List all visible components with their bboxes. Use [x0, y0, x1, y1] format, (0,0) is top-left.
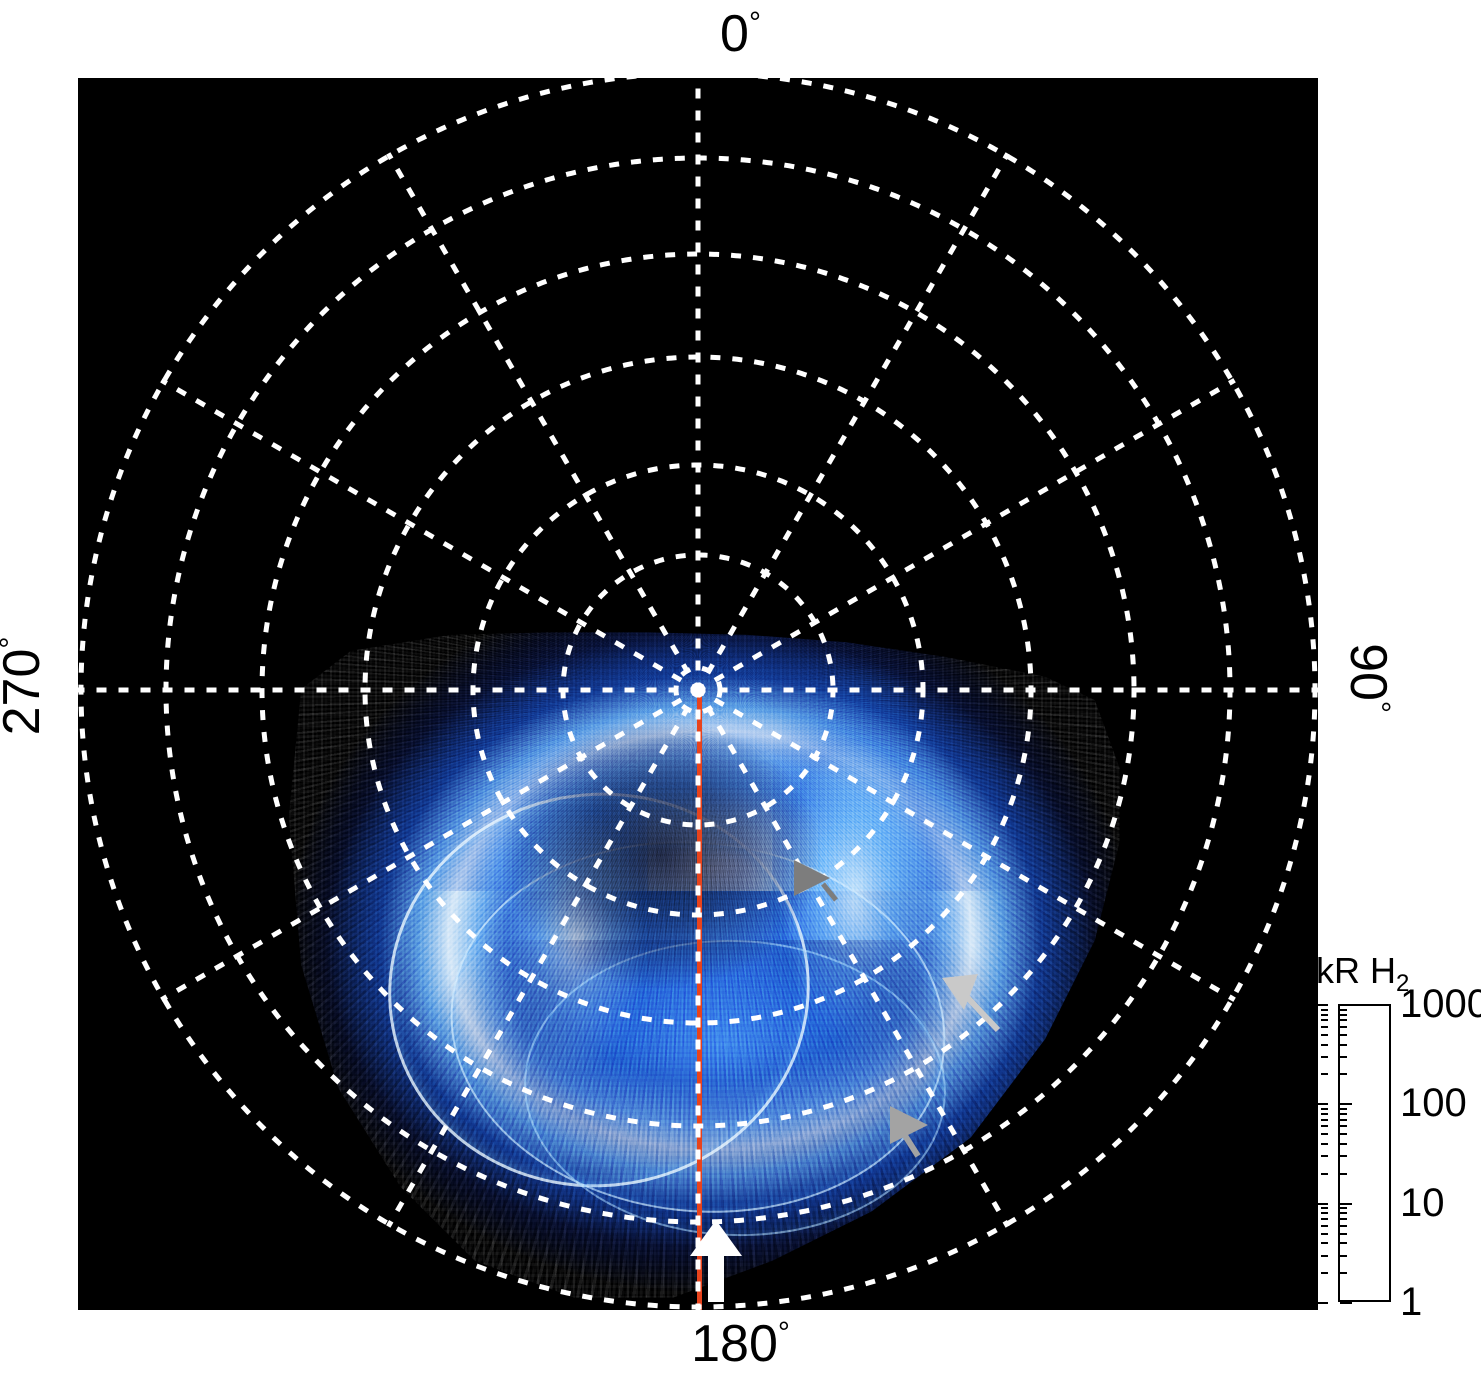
colorbar-minor-tick: [1321, 1155, 1328, 1157]
colorbar-minor-tick: [1340, 1173, 1347, 1175]
colorbar-minor-tick: [1321, 1056, 1328, 1058]
colorbar-minor-tick: [1321, 1113, 1328, 1115]
colorbar-minor-tick: [1340, 1272, 1347, 1274]
colorbar-tick-label: 1: [1400, 1282, 1422, 1322]
degree-symbol-bottom: °: [778, 1317, 790, 1350]
arrow-white-bottom-icon: [690, 1220, 742, 1302]
colorbar-title: kR H2: [1316, 950, 1409, 998]
colorbar-major-tick: [1316, 1302, 1328, 1304]
colorbar-major-tick: [1340, 1004, 1352, 1006]
colorbar-minor-tick: [1340, 1207, 1347, 1209]
colorbar-minor-tick: [1321, 1207, 1328, 1209]
colorbar-major-tick: [1316, 1103, 1328, 1105]
colorbar-minor-tick: [1340, 1133, 1347, 1135]
colorbar-gradient: [1338, 1004, 1391, 1302]
arrow-gray-lower-icon: [890, 1106, 928, 1156]
colorbar-minor-tick: [1321, 1212, 1328, 1214]
colorbar-minor-tick: [1321, 1044, 1328, 1046]
polar-plot-panel: [78, 78, 1318, 1310]
colorbar-minor-tick: [1340, 1125, 1347, 1127]
colorbar-minor-tick: [1340, 1212, 1347, 1214]
plot-inner: [78, 78, 1318, 1310]
colorbar-minor-tick: [1321, 1218, 1328, 1220]
colorbar-minor-tick: [1340, 1034, 1347, 1036]
colorbar-minor-tick: [1340, 1073, 1347, 1075]
colorbar-minor-tick: [1340, 1113, 1347, 1115]
degree-symbol-left: °: [0, 637, 28, 649]
colorbar-tick-label: 1000: [1400, 984, 1481, 1024]
colorbar-minor-tick: [1321, 1014, 1328, 1016]
colorbar-minor-tick: [1340, 1218, 1347, 1220]
colorbar-minor-tick: [1321, 1034, 1328, 1036]
axis-label-270-deg: 270°: [0, 606, 48, 766]
colorbar-minor-tick: [1340, 1225, 1347, 1227]
colorbar-major-tick: [1340, 1203, 1352, 1205]
colorbar-minor-tick: [1340, 1009, 1347, 1011]
colorbar-minor-tick: [1340, 1119, 1347, 1121]
colorbar-minor-tick: [1321, 1073, 1328, 1075]
colorbar-minor-tick: [1340, 1019, 1347, 1021]
colorbar-minor-tick: [1340, 1143, 1347, 1145]
colorbar-minor-tick: [1321, 1108, 1328, 1110]
colorbar-minor-tick: [1321, 1019, 1328, 1021]
degree-symbol-top: °: [749, 7, 761, 40]
colorbar-minor-tick: [1340, 1155, 1347, 1157]
colorbar-minor-tick: [1340, 1026, 1347, 1028]
colorbar-minor-tick: [1340, 1242, 1347, 1244]
colorbar-minor-tick: [1340, 1044, 1347, 1046]
colorbar-minor-tick: [1340, 1255, 1347, 1257]
colorbar-minor-tick: [1321, 1119, 1328, 1121]
arrow-light-mid-icon: [942, 974, 998, 1030]
colorbar-minor-tick: [1340, 1233, 1347, 1235]
colorbar-major-tick: [1316, 1203, 1328, 1205]
colorbar-minor-tick: [1340, 1014, 1347, 1016]
axis-label-0-deg: 0°: [0, 8, 1481, 60]
colorbar-minor-tick: [1321, 1173, 1328, 1175]
colorbar-tick-label: 10: [1400, 1183, 1445, 1223]
colorbar-minor-tick: [1321, 1009, 1328, 1011]
colorbar-tick-label: 100: [1400, 1083, 1467, 1123]
degree-symbol-right: °: [1362, 701, 1395, 713]
colorbar-minor-tick: [1321, 1125, 1328, 1127]
colorbar-major-tick: [1340, 1103, 1352, 1105]
annotation-markers: [78, 78, 1318, 1310]
colorbar-major-tick: [1340, 1302, 1352, 1304]
colorbar-minor-tick: [1321, 1225, 1328, 1227]
colorbar-minor-tick: [1321, 1133, 1328, 1135]
colorbar-minor-tick: [1321, 1233, 1328, 1235]
colorbar-minor-tick: [1340, 1108, 1347, 1110]
colorbar-major-tick: [1316, 1004, 1328, 1006]
colorbar-minor-tick: [1321, 1255, 1328, 1257]
colorbar-minor-tick: [1321, 1242, 1328, 1244]
colorbar-minor-tick: [1340, 1056, 1347, 1058]
axis-label-90-deg: 90°: [1342, 598, 1394, 758]
colorbar-minor-tick: [1321, 1026, 1328, 1028]
axis-label-180-deg: 180°: [0, 1318, 1481, 1370]
colorbar-minor-tick: [1321, 1272, 1328, 1274]
arrow-gray-upper-icon: [794, 860, 836, 900]
colorbar-minor-tick: [1321, 1143, 1328, 1145]
